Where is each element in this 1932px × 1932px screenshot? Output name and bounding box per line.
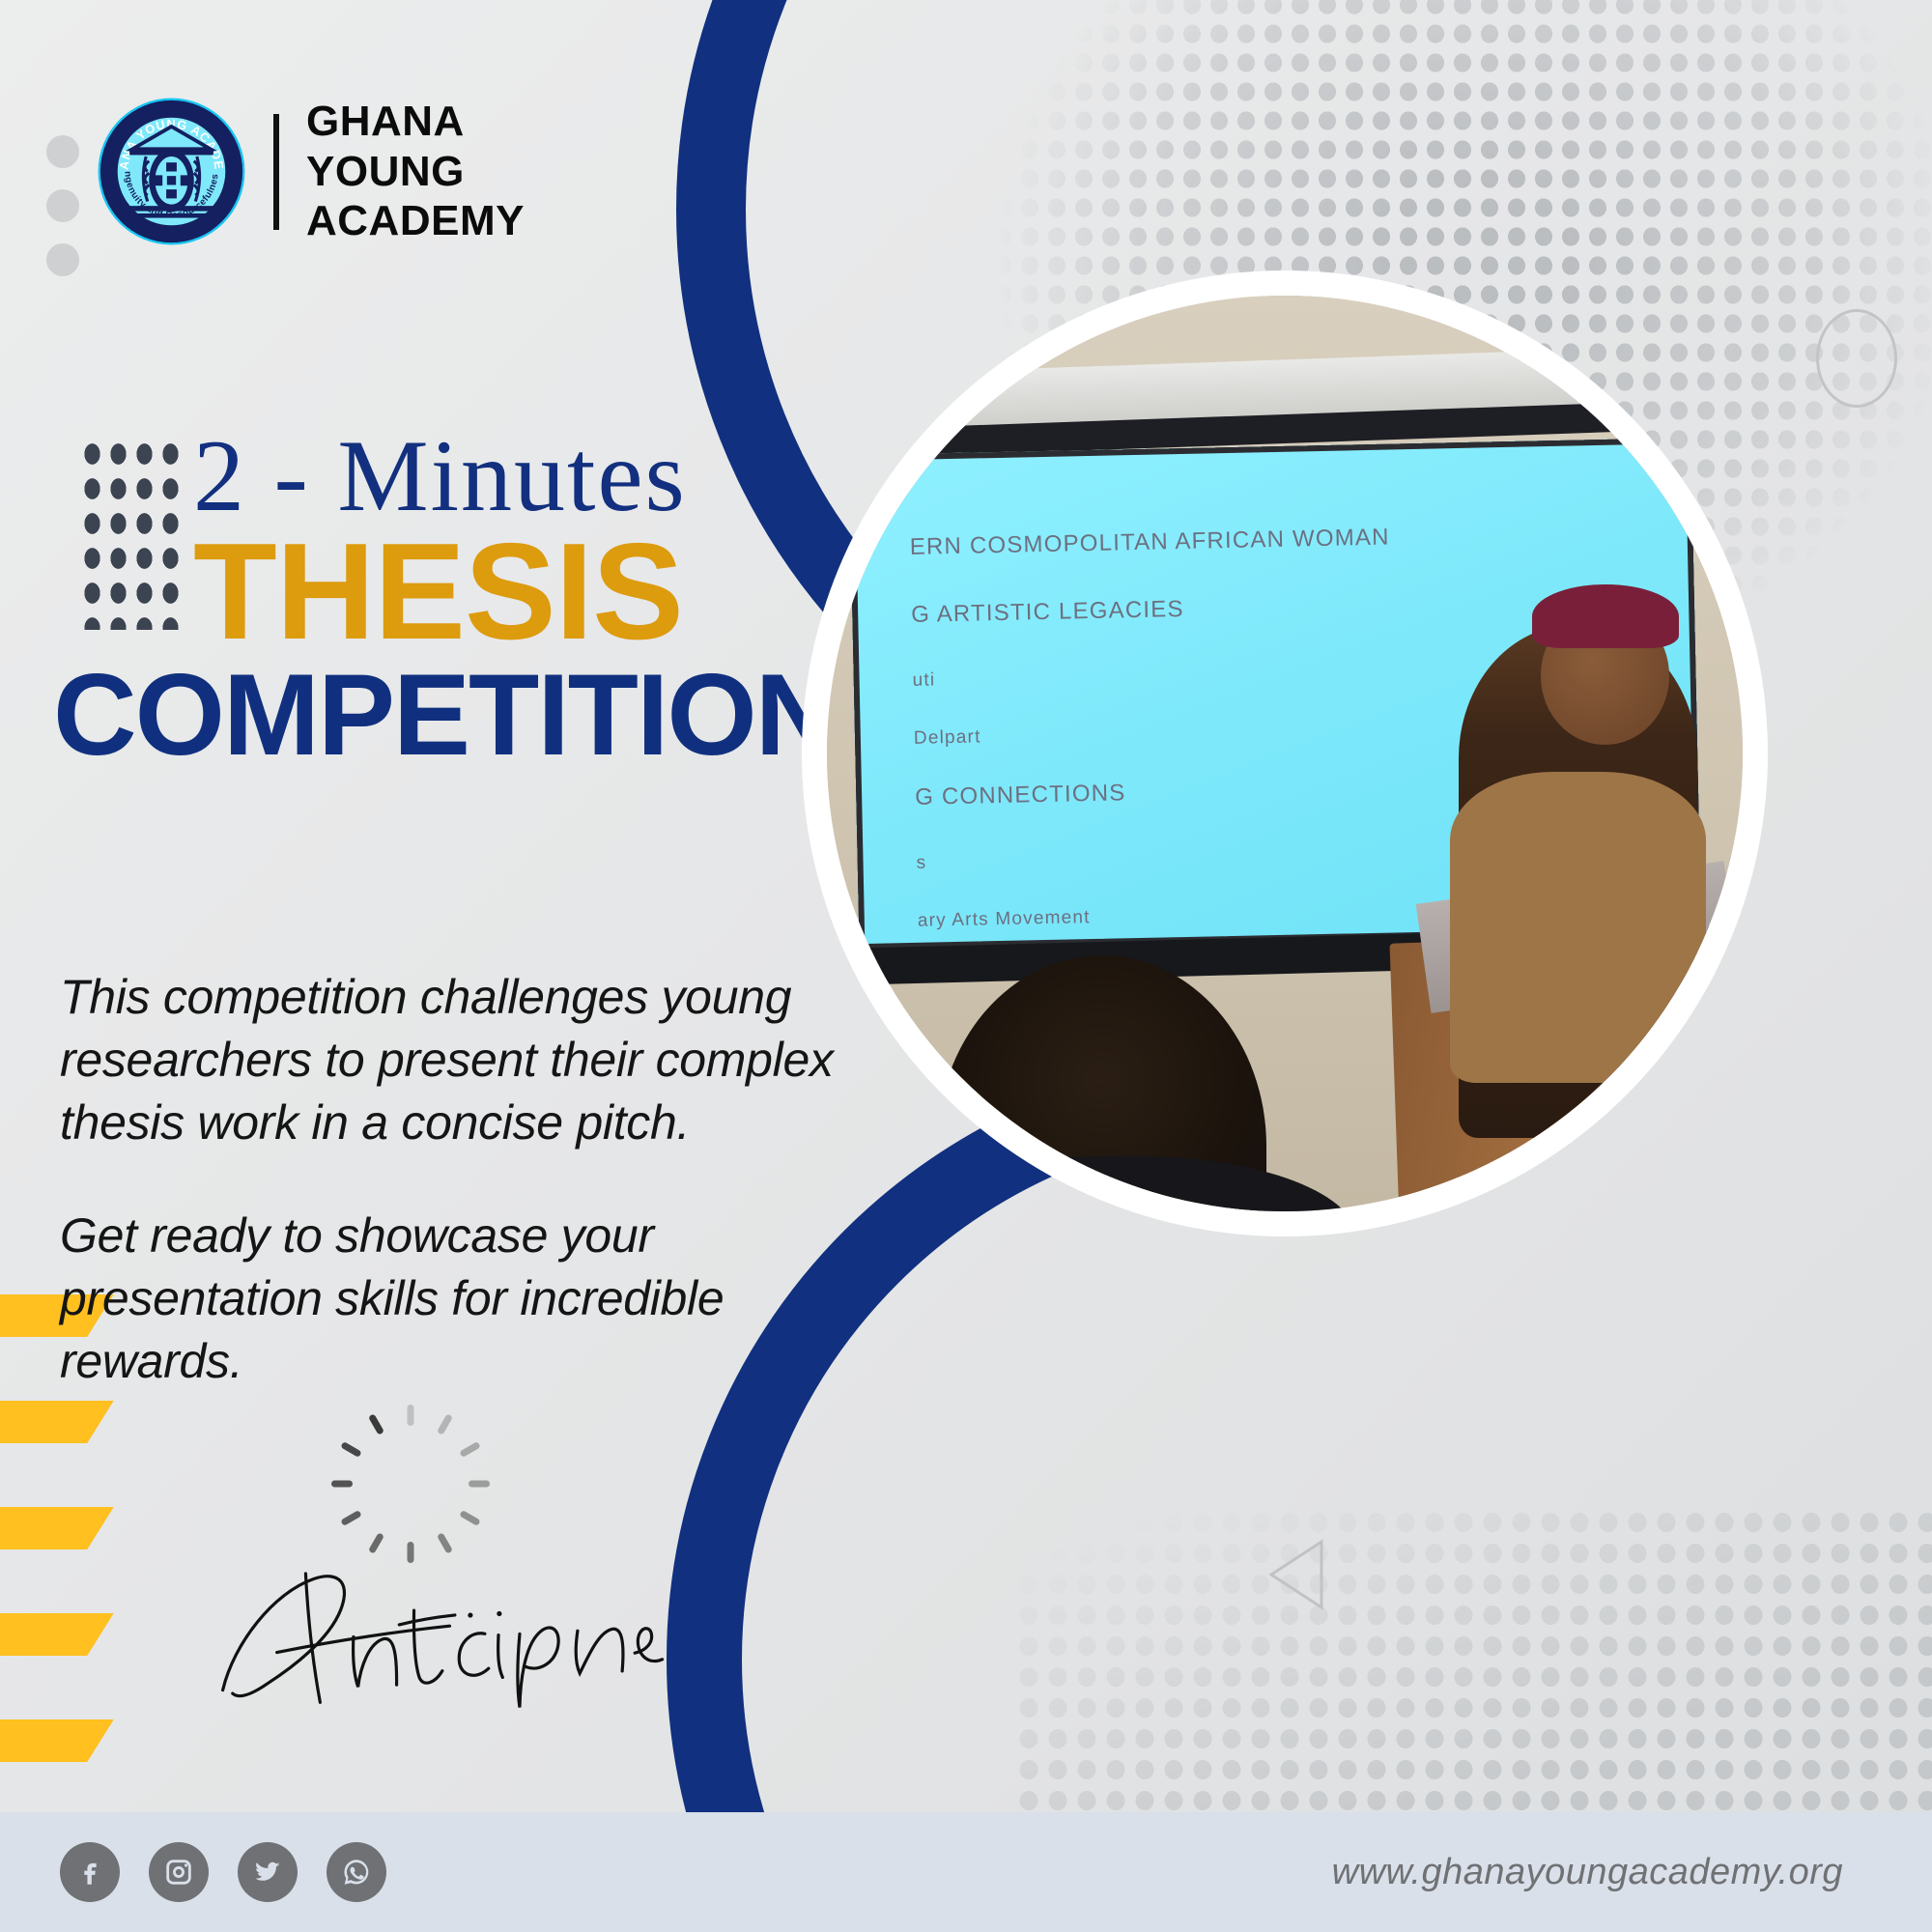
logo-line-2: YOUNG [306,147,525,196]
presentation-photo: DA-LITE ERN COSMOPOLITAN AFRICAN WOMAN G… [827,296,1743,1211]
gray-dots-decoration [46,135,79,298]
projector-brand-label: DA-LITE [1632,309,1689,326]
dot-grid-decoration [79,437,185,630]
speaker-head-wrap [1532,584,1679,648]
logo-wordmark: GHANA YOUNG ACADEMY [306,97,525,245]
website-url: www.ghanayoungacademy.org [1332,1852,1843,1893]
whatsapp-icon[interactable] [327,1842,386,1902]
footer-bar: www.ghanayoungacademy.org [0,1812,1932,1932]
description-paragraph-1: This competition challenges young resear… [60,966,910,1154]
slide-line-1: ERN COSMOPOLITAN AFRICAN WOMAN [910,518,1652,562]
instagram-icon[interactable] [149,1842,209,1902]
triangle-outline-icon [1265,1536,1333,1618]
academy-emblem-icon: GHANA YOUNG ACADEMY Ingenuity and Resour… [97,97,246,246]
description-block: This competition challenges young resear… [60,966,910,1443]
logo-divider [273,114,279,230]
logo-line-1: GHANA [306,97,525,146]
halftone-dot-pattern-bottom [1014,1507,1932,1855]
logo-line-3: ACADEMY [306,196,525,245]
facebook-icon[interactable] [60,1842,120,1902]
brand-logo: GHANA YOUNG ACADEMY Ingenuity and Resour… [97,97,525,246]
poster-canvas: GHANA YOUNG ACADEMY Ingenuity and Resour… [0,0,1932,1932]
loading-spinner-icon [357,1399,464,1505]
anticipate-script-text [203,1505,667,1731]
description-paragraph-2: Get ready to showcase your presentation … [60,1205,910,1393]
twitter-icon[interactable] [238,1842,298,1902]
speaker-leopard-top [1450,772,1706,1083]
social-links [60,1842,386,1902]
photo-circle-frame: DA-LITE ERN COSMOPOLITAN AFRICAN WOMAN G… [802,270,1768,1236]
photo-area: DA-LITE ERN COSMOPOLITAN AFRICAN WOMAN G… [802,270,1932,1236]
